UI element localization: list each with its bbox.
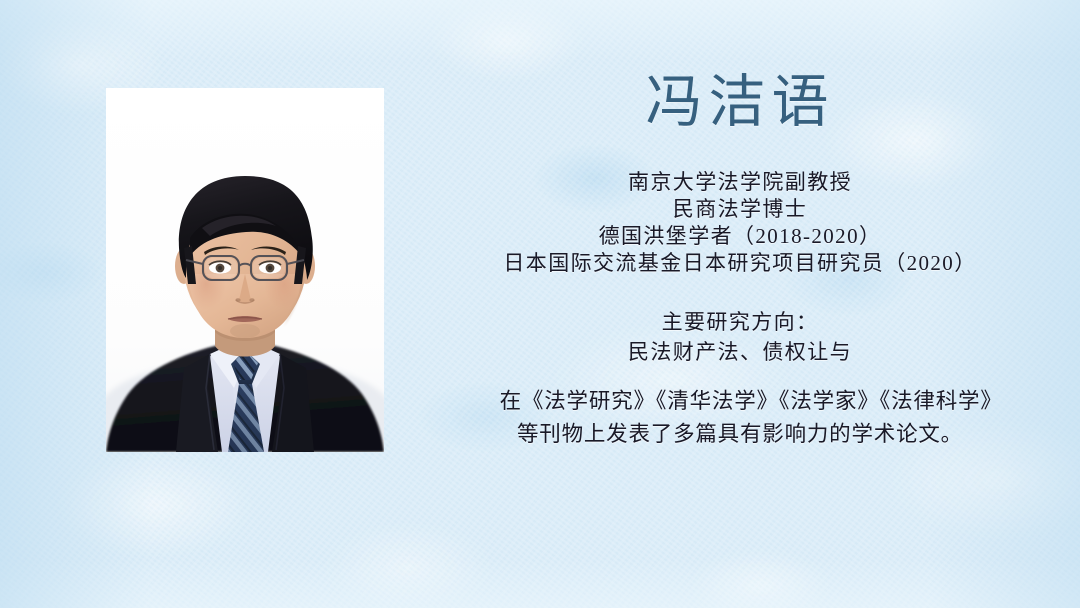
credential-line: 日本国际交流基金日本研究项目研究员（2020） — [400, 250, 1080, 277]
research-heading: 主要研究方向： — [400, 307, 1080, 337]
research-block: 主要研究方向： 民法财产法、债权让与 — [400, 307, 1080, 367]
publications-block: 在《法学研究》《清华法学》《法学家》《法律科学》 等刊物上发表了多篇具有影响力的… — [400, 385, 1080, 451]
credential-line: 民商法学博士 — [400, 196, 1080, 223]
text-column: 冯洁语 南京大学法学院副教授 民商法学博士 德国洪堡学者（2018-2020） … — [400, 0, 1080, 608]
publication-line: 在《法学研究》《清华法学》《法学家》《法律科学》 — [400, 385, 1080, 418]
credential-line: 南京大学法学院副教授 — [400, 169, 1080, 196]
research-areas: 民法财产法、债权让与 — [400, 337, 1080, 367]
publication-line: 等刊物上发表了多篇具有影响力的学术论文。 — [400, 418, 1080, 451]
portrait-photo — [106, 88, 384, 452]
slide-background: 冯洁语 南京大学法学院副教授 民商法学博士 德国洪堡学者（2018-2020） … — [0, 0, 1080, 608]
credential-line: 德国洪堡学者（2018-2020） — [400, 223, 1080, 250]
page-title: 冯洁语 — [400, 74, 1080, 131]
portrait-illustration — [106, 88, 384, 452]
credentials-block: 南京大学法学院副教授 民商法学博士 德国洪堡学者（2018-2020） 日本国际… — [400, 169, 1080, 277]
